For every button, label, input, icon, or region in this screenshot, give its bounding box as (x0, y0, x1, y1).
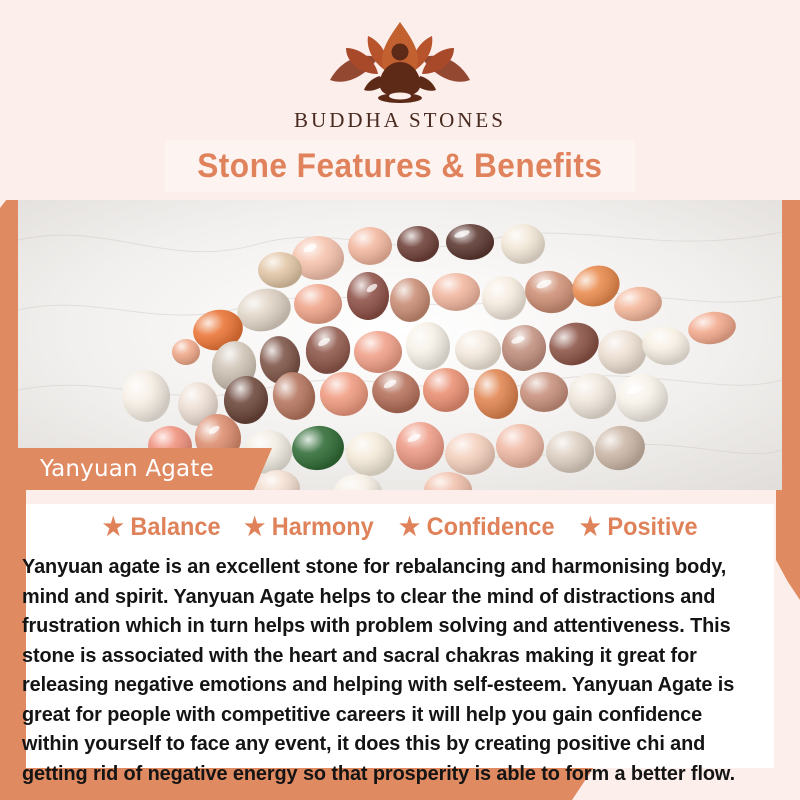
keyword-confidence: ★ Confidence (399, 513, 555, 542)
keyword-balance: ★ Balance (103, 513, 221, 542)
star-icon: ★ (103, 515, 124, 540)
stone-name-label: Yanyuan Agate (18, 456, 214, 482)
lotus-meditation-icon (316, 18, 484, 106)
brand-logo: BUDDHA STONES (0, 18, 800, 133)
keyword-list: ★ Balance ★ Harmony ★ Confidence ★ Posit… (26, 508, 774, 546)
tumbled-agate-stones-image (18, 200, 782, 490)
page-title-band: Stone Features & Benefits (165, 140, 635, 192)
star-icon: ★ (399, 515, 420, 540)
stone-name-tag: Yanyuan Agate (18, 448, 272, 490)
infographic-page: BUDDHA STONES Stone Features & Benefits (0, 0, 800, 800)
keyword-label: Confidence (427, 513, 555, 542)
star-icon: ★ (244, 515, 265, 540)
product-photo (18, 200, 782, 490)
page-title: Stone Features & Benefits (197, 147, 602, 186)
keyword-positive: ★ Positive (579, 513, 697, 542)
keyword-harmony: ★ Harmony (244, 513, 374, 542)
keyword-label: Harmony (272, 513, 374, 542)
keyword-label: Positive (607, 513, 697, 542)
header: BUDDHA STONES Stone Features & Benefits (0, 0, 800, 200)
brand-name: BUDDHA STONES (294, 108, 506, 133)
description-text: Yanyuan agate is an excellent stone for … (22, 552, 740, 788)
panel-top-strip (26, 490, 774, 504)
keyword-label: Balance (130, 513, 220, 542)
star-icon: ★ (579, 515, 600, 540)
